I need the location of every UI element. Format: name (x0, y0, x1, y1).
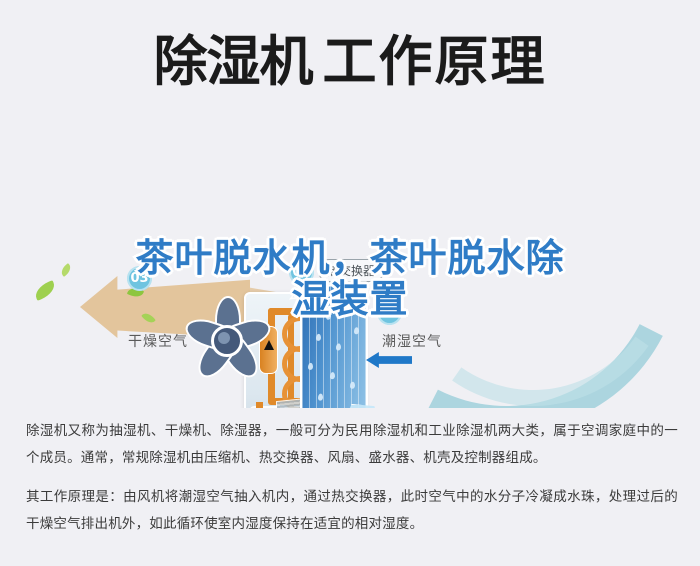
fan-icon (176, 290, 274, 388)
page-title-part1: 除湿机 (154, 30, 313, 93)
callout-bubble-heat-exchanger: 热交换器 (318, 259, 384, 282)
leaf-icon (59, 263, 73, 277)
callout-label-humid-air: 潮湿空气 (382, 331, 442, 351)
fan-hub-center-icon (218, 332, 230, 344)
leaf-icon (32, 280, 57, 301)
callout-badge-01-humid-air: 01 (377, 300, 402, 325)
callout-badge-02-heat-exchanger: 02 (289, 260, 314, 285)
callout-badge-03-dry-air: 03 (127, 266, 152, 291)
dehumidifier-diagram: 水箱 03 干燥空气 02 热交换器 01 潮湿空气 02 潮湿空气经过蒸发器冷… (0, 118, 700, 408)
callout-label-dry-air: 干燥空气 (128, 331, 188, 351)
page-title-part2: 工作原理 (323, 30, 547, 93)
description-block: 除湿机又称为抽湿机、干燥机、除湿器，一般可分为民用除湿机和工业除湿机两大类，属于… (26, 418, 678, 550)
description-paragraph-1: 除湿机又称为抽湿机、干燥机、除湿器，一般可分为民用除湿机和工业除湿机两大类，属于… (26, 418, 678, 472)
heat-exchanger-icon (300, 280, 368, 408)
poster-root: 除湿机工作原理 (0, 0, 700, 566)
description-paragraph-2: 其工作原理是：由风机将潮湿空气抽入机内，通过热交换器，此时空气中的水分子冷凝成水… (26, 484, 678, 538)
heat-exchanger-fins-icon (302, 282, 366, 408)
page-title: 除湿机工作原理 (0, 24, 700, 100)
